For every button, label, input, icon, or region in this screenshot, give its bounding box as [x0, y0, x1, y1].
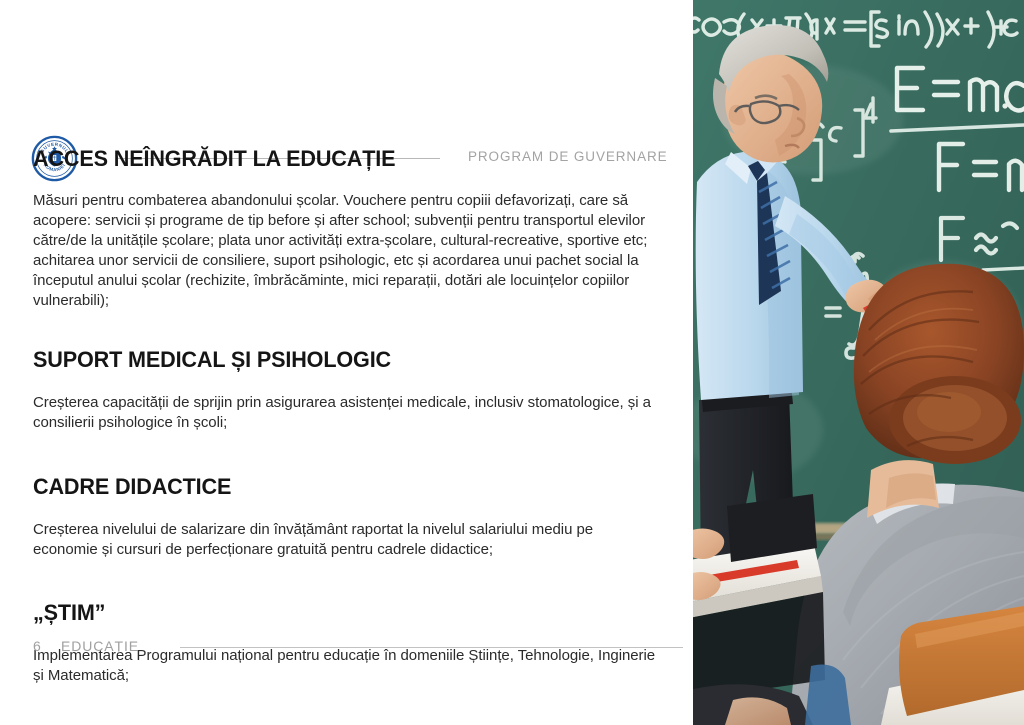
- sections-list: ACCES NEÎNGRĂDIT LA EDUCAȚIE Măsuri pent…: [33, 146, 658, 686]
- page-number: 6: [33, 638, 41, 654]
- section-suport-medical: SUPORT MEDICAL ȘI PSIHOLOGIC Creșterea c…: [33, 347, 658, 433]
- page-footer: 6 EDUCAȚIE: [0, 638, 693, 668]
- section-cadre-didactice: CADRE DIDACTICE Creșterea nivelului de s…: [33, 474, 658, 560]
- section-heading: SUPORT MEDICAL ȘI PSIHOLOGIC: [33, 347, 633, 372]
- classroom-photo: [693, 0, 1024, 725]
- section-paragraph: Măsuri pentru combaterea abandonului șco…: [33, 191, 658, 311]
- section-heading: CADRE DIDACTICE: [33, 474, 633, 499]
- section-heading: „ȘTIM”: [33, 600, 633, 625]
- section-paragraph: Creșterea nivelului de salarizare din în…: [33, 520, 658, 560]
- slide-page: GUVERNUL ROMANIEI: [0, 0, 1024, 725]
- section-acces-neingradit: ACCES NEÎNGRĂDIT LA EDUCAȚIE Măsuri pent…: [33, 146, 658, 311]
- footer-divider: [180, 647, 683, 648]
- section-paragraph: Creșterea capacității de sprijin prin as…: [33, 393, 658, 433]
- page-header: GUVERNUL ROMANIEI: [0, 64, 693, 134]
- content-column: GUVERNUL ROMANIEI: [0, 0, 693, 725]
- footer-chapter-label: EDUCAȚIE: [61, 638, 139, 654]
- section-heading: ACCES NEÎNGRĂDIT LA EDUCAȚIE: [33, 146, 633, 171]
